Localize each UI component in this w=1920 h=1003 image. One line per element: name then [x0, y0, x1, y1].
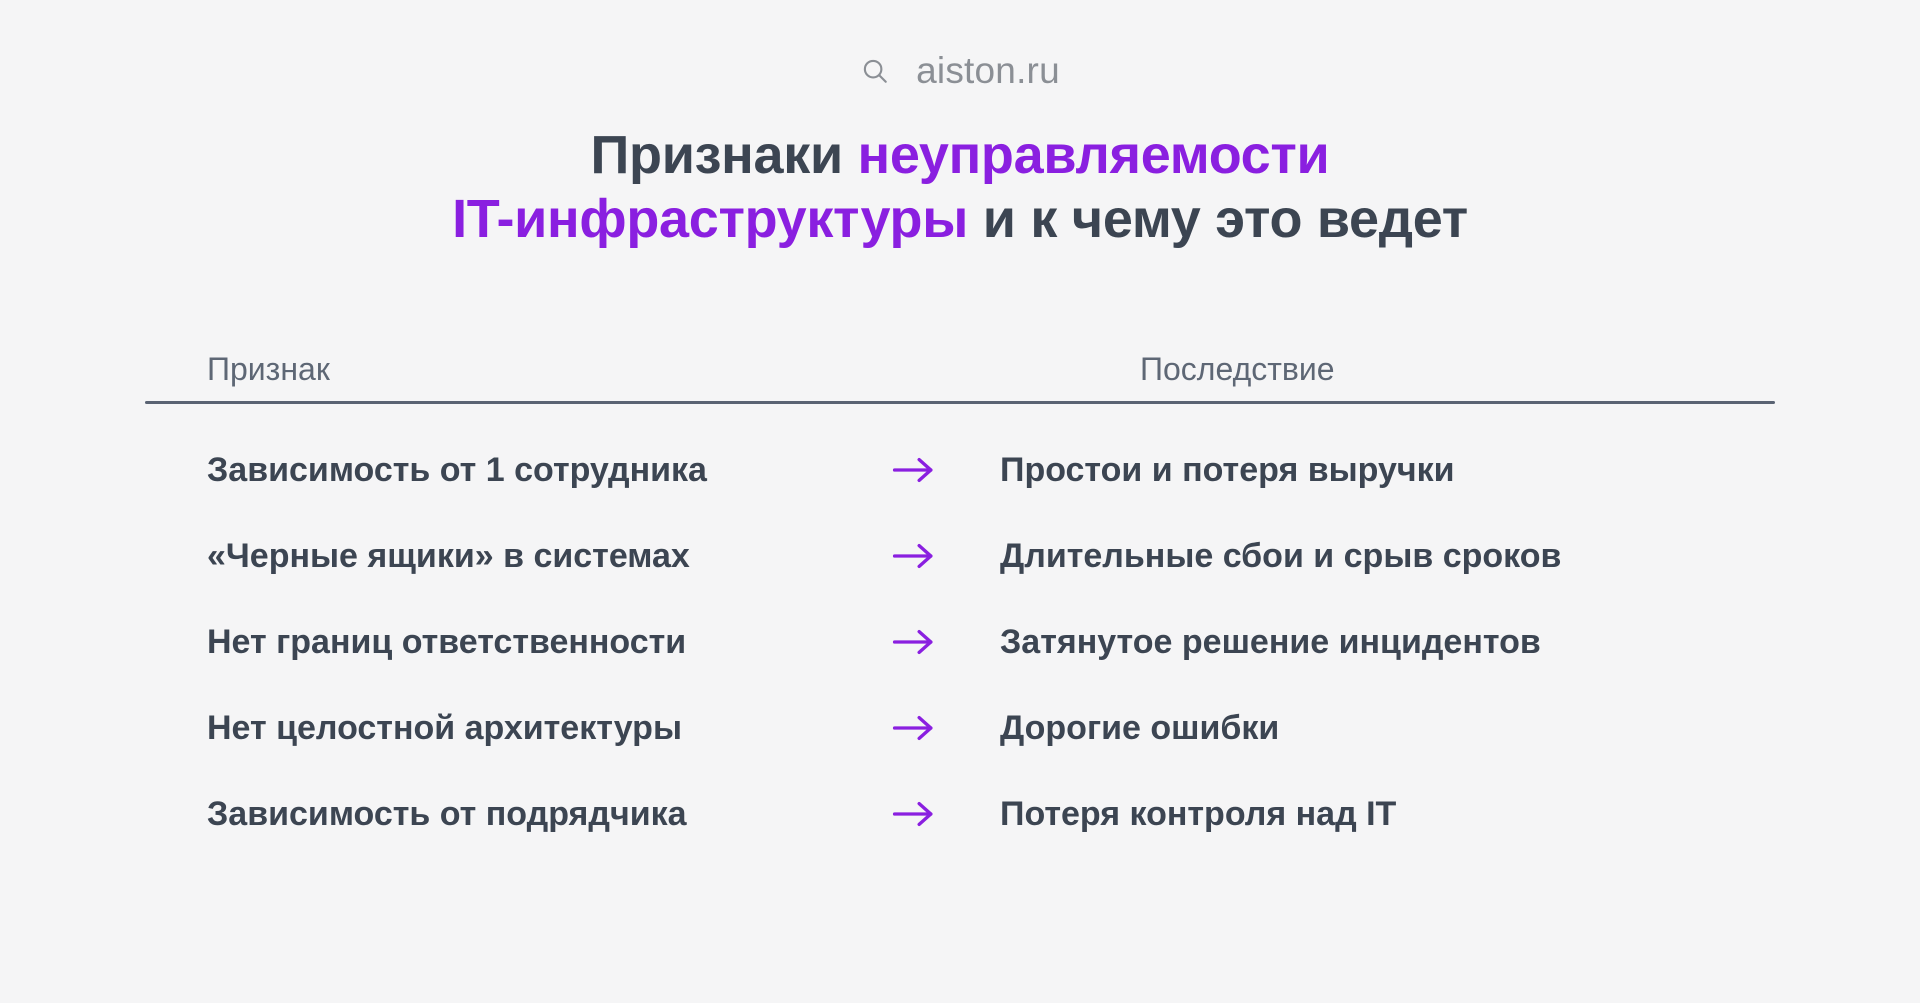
arrow-right-icon	[835, 799, 1000, 829]
table-row: Нет целостной архитектуры Дорогие ошибки	[145, 685, 1775, 771]
page-title-line-1: Признаки неуправляемости	[0, 124, 1920, 188]
arrow-right-icon	[835, 627, 1000, 657]
page-title-line-2-plain: и к чему это ведет	[968, 189, 1468, 249]
cell-consequence: Длительные сбои и срыв сроков	[1000, 537, 1775, 576]
cell-consequence: Потеря контроля над IT	[1000, 795, 1775, 834]
brand-name: aiston.ru	[916, 52, 1060, 89]
cell-sign: Зависимость от 1 сотрудника	[145, 451, 835, 490]
cell-consequence: Затянутое решение инцидентов	[1000, 623, 1775, 662]
table-body: Зависимость от 1 сотрудника Простои и по…	[145, 404, 1775, 857]
page-title-line-2: IT-инфраструктуры и к чему это ведет	[0, 188, 1920, 252]
cell-sign: Нет границ ответственности	[145, 623, 835, 662]
column-header-consequence: Последствие	[1000, 352, 1775, 387]
table-row: Зависимость от подрядчика Потеря контрол…	[145, 771, 1775, 857]
cell-sign: «Черные ящики» в системах	[145, 537, 835, 576]
column-header-sign: Признак	[145, 352, 1000, 387]
slide-root: aiston.ru Признаки неуправляемости IT-ин…	[0, 0, 1920, 1003]
page-title-line-1-plain: Признаки	[591, 125, 858, 185]
cell-consequence: Дорогие ошибки	[1000, 709, 1775, 748]
page-title-line-2-accent: IT-инфраструктуры	[452, 189, 968, 249]
brand-bar: aiston.ru	[0, 52, 1920, 89]
cell-sign: Зависимость от подрядчика	[145, 795, 835, 834]
arrow-right-icon	[835, 541, 1000, 571]
table-header-row: Признак Последствие	[145, 352, 1775, 401]
table-row: Зависимость от 1 сотрудника Простои и по…	[145, 427, 1775, 513]
table-row: Нет границ ответственности Затянутое реш…	[145, 599, 1775, 685]
page-title: Признаки неуправляемости IT-инфраструкту…	[0, 124, 1920, 251]
cell-sign: Нет целостной архитектуры	[145, 709, 835, 748]
page-title-line-1-accent: неуправляемости	[858, 125, 1330, 185]
search-icon	[860, 56, 890, 86]
table-row: «Черные ящики» в системах Длительные сбо…	[145, 513, 1775, 599]
signs-consequences-table: Признак Последствие Зависимость от 1 сот…	[145, 352, 1775, 857]
arrow-right-icon	[835, 713, 1000, 743]
cell-consequence: Простои и потеря выручки	[1000, 451, 1775, 490]
arrow-right-icon	[835, 455, 1000, 485]
